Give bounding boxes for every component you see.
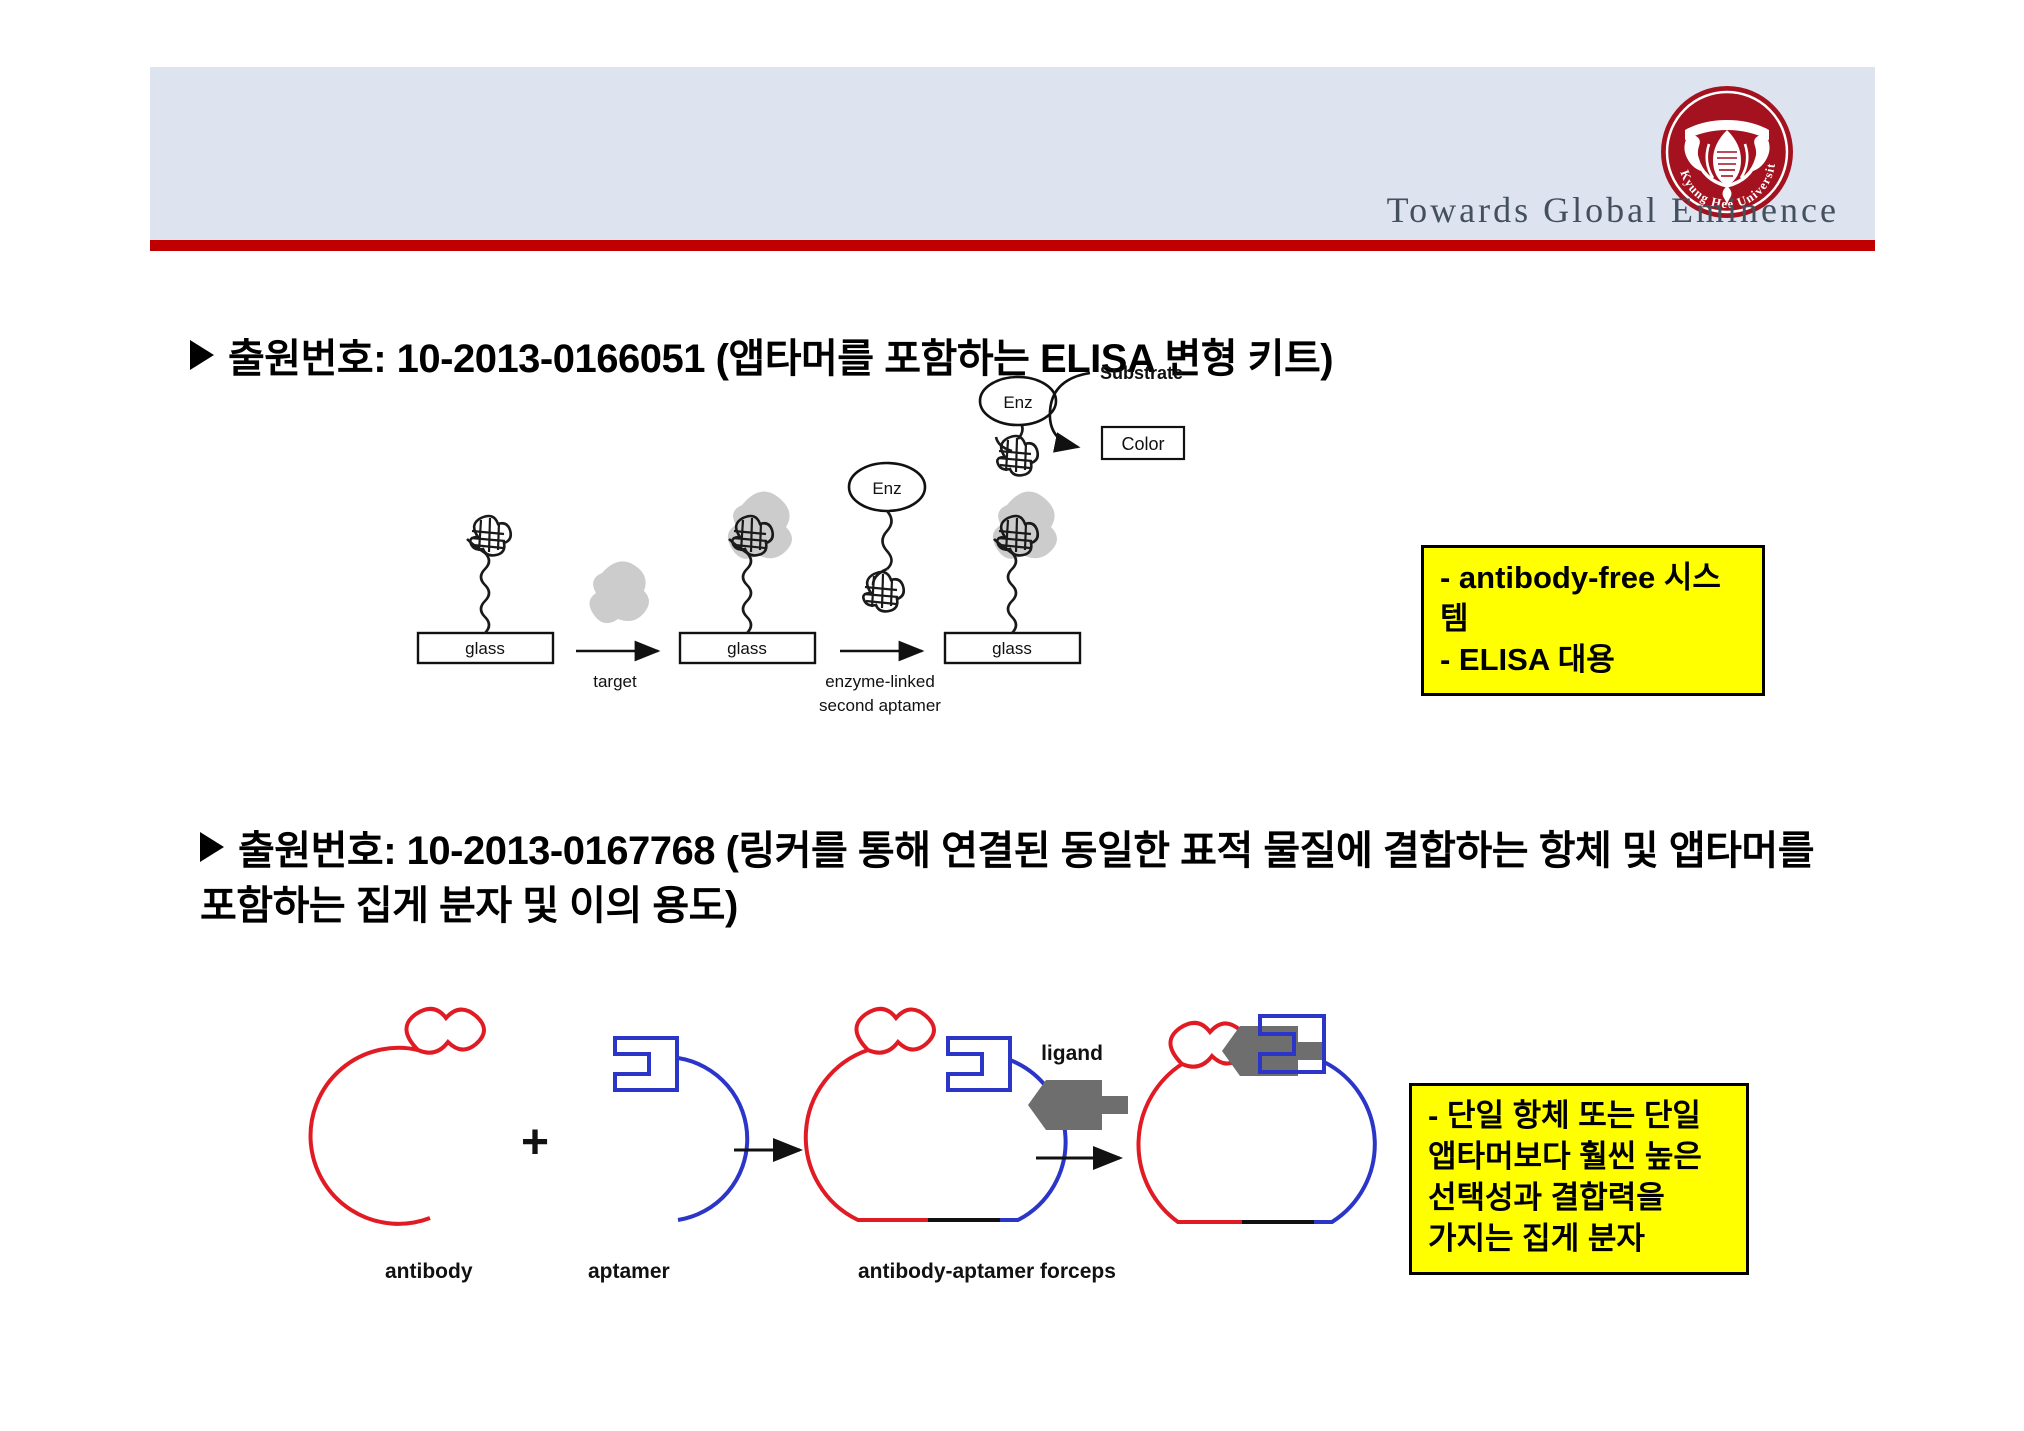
svg-text:target: target bbox=[593, 672, 637, 691]
antibody-unit bbox=[311, 1009, 484, 1224]
svg-text:Enz: Enz bbox=[872, 479, 901, 498]
antibody-aptamer-forceps-unit bbox=[806, 1009, 1066, 1220]
bullet-arrow-icon bbox=[190, 340, 214, 370]
bound-forceps-complex bbox=[1138, 1016, 1374, 1222]
plus-sign: + bbox=[521, 1116, 549, 1169]
svg-text:Substrate: Substrate bbox=[1100, 363, 1183, 383]
header-tagline: Towards Global Eminence bbox=[1387, 189, 1839, 231]
label-ligand: ligand bbox=[1041, 1042, 1103, 1065]
svg-text:Color: Color bbox=[1121, 434, 1164, 454]
aptamer-unit bbox=[615, 1038, 747, 1220]
patent-heading-2-text: 출원번호: 10-2013-0167768 (링커를 통해 연결된 동일한 표적… bbox=[200, 829, 1814, 928]
ligand-unit: ligand bbox=[1028, 1042, 1128, 1158]
svg-text:glass: glass bbox=[727, 639, 767, 658]
label-antibody: antibody bbox=[385, 1260, 473, 1283]
callout-antibody-free: - antibody-free 시스템 - ELISA 대용 bbox=[1421, 545, 1765, 696]
label-aptamer: aptamer bbox=[588, 1260, 670, 1283]
figure-aptamer-elisa: glass target glass Enz enz bbox=[390, 415, 1220, 795]
svg-text:glass: glass bbox=[992, 639, 1032, 658]
elisa-stage-3: glass bbox=[945, 419, 1080, 663]
patent-heading-2: 출원번호: 10-2013-0167768 (링커를 통해 연결된 동일한 표적… bbox=[200, 824, 1820, 934]
label-forceps: antibody-aptamer forceps bbox=[858, 1260, 1116, 1283]
slide-header: Kyung Hee University Towards Global Emin… bbox=[150, 67, 1875, 251]
figure-antibody-aptamer-forceps: antibody + aptamer antibody-aptamer forc… bbox=[330, 1030, 1350, 1320]
enzyme-linked-second-aptamer-free: Enz bbox=[849, 463, 925, 611]
bullet-arrow-icon-2 bbox=[200, 832, 224, 862]
target-blob-free bbox=[589, 561, 649, 623]
svg-text:glass: glass bbox=[465, 639, 505, 658]
svg-text:Enz: Enz bbox=[1003, 393, 1032, 412]
svg-text:second aptamer: second aptamer bbox=[819, 696, 941, 715]
callout-forceps-advantage: - 단일 항체 또는 단일 앱타머보다 훨씬 높은 선택성과 결합력을 가지는 … bbox=[1409, 1083, 1749, 1275]
elisa-stage-1: glass bbox=[418, 516, 553, 663]
svg-text:enzyme-linked: enzyme-linked bbox=[825, 672, 935, 691]
elisa-stage-2: glass bbox=[680, 492, 815, 663]
patent-heading-1: 출원번호: 10-2013-0166051 (앱타머를 포함하는 ELISA 변… bbox=[190, 332, 1790, 387]
header-red-rule bbox=[150, 240, 1875, 251]
